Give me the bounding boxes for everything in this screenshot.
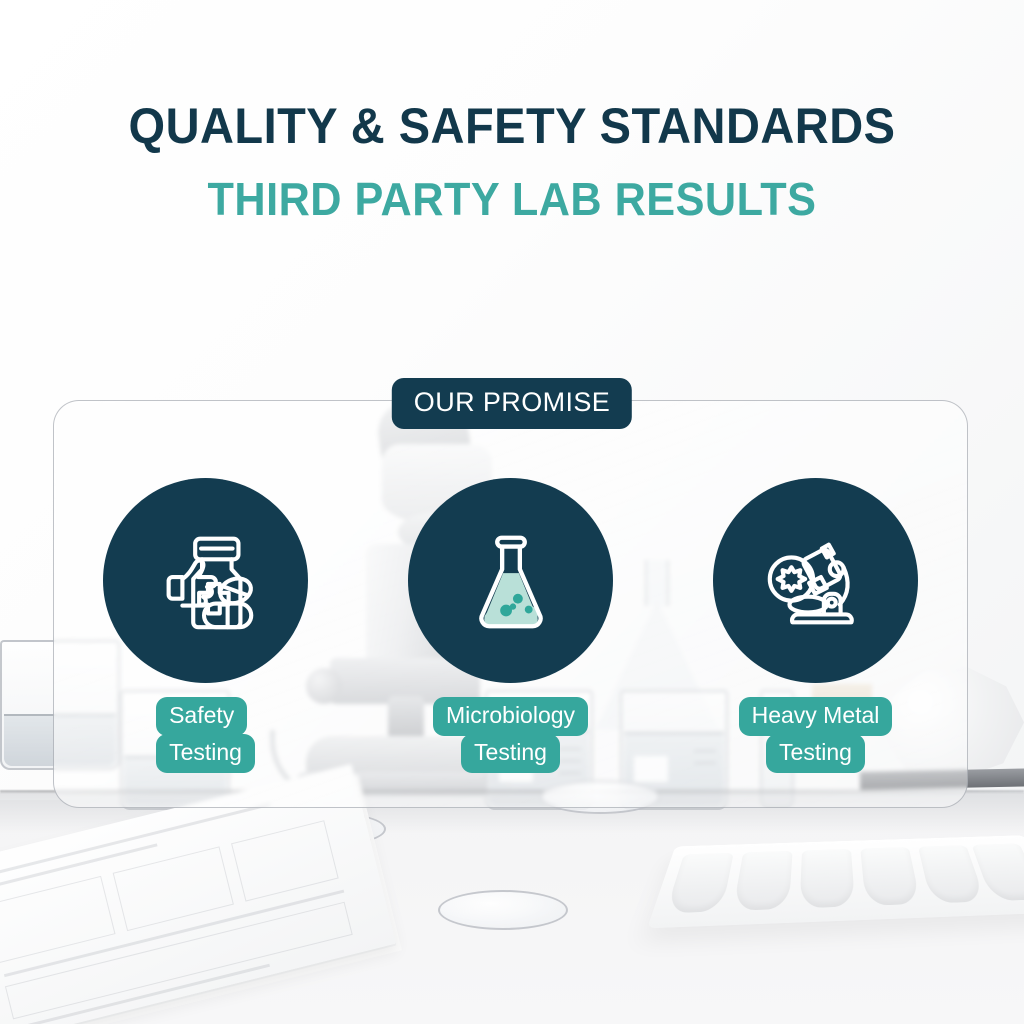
feature-caption-line2: Testing bbox=[461, 734, 560, 773]
feature-icon-circle bbox=[408, 478, 613, 683]
feature-caption-line1: Heavy Metal bbox=[739, 697, 893, 736]
our-promise-badge: OUR PROMISE bbox=[392, 378, 632, 429]
page-subtitle: THIRD PARTY LAB RESULTS bbox=[31, 175, 994, 223]
feature-caption-line1: Microbiology bbox=[433, 697, 588, 736]
feature-safety-testing[interactable]: Safety Testing bbox=[81, 478, 331, 773]
feature-icon-circle bbox=[103, 478, 308, 683]
feature-caption: Microbiology Testing bbox=[433, 697, 588, 773]
feature-microbiology-testing[interactable]: Microbiology Testing bbox=[386, 478, 636, 773]
feature-caption: Heavy Metal Testing bbox=[739, 697, 893, 773]
page-title: QUALITY & SAFETY STANDARDS bbox=[31, 100, 994, 153]
feature-list: Safety Testing bbox=[53, 400, 968, 808]
erlenmeyer-flask-icon bbox=[452, 522, 570, 640]
feature-caption-line2: Testing bbox=[766, 734, 865, 773]
feature-caption: Safety Testing bbox=[156, 697, 255, 773]
microscope-icon bbox=[757, 522, 875, 640]
feature-heavy-metal-testing[interactable]: Heavy Metal Testing bbox=[691, 478, 941, 773]
egg-carton-tray bbox=[647, 835, 1024, 928]
feature-icon-circle bbox=[713, 478, 918, 683]
feature-caption-line2: Testing bbox=[156, 734, 255, 773]
page-heading: QUALITY & SAFETY STANDARDS THIRD PARTY L… bbox=[0, 100, 1024, 223]
feature-caption-line1: Safety bbox=[156, 697, 247, 736]
pill-bottle-icon bbox=[147, 522, 265, 640]
poster-canvas: QUALITY & SAFETY STANDARDS THIRD PARTY L… bbox=[0, 0, 1024, 1024]
petri-dish bbox=[438, 890, 568, 930]
